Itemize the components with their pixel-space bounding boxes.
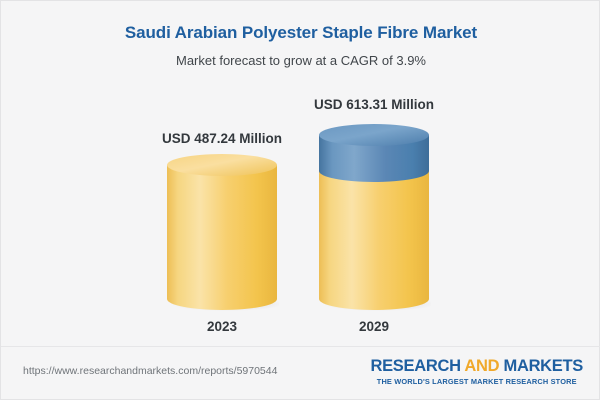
infographic-card: Saudi Arabian Polyester Staple Fibre Mar… (0, 0, 600, 400)
logo-text-and: AND (464, 357, 499, 375)
logo-text-markets: MARKETS (499, 357, 583, 375)
bar-value-label-2023: USD 487.24 Million (112, 131, 332, 146)
footer: https://www.researchandmarkets.com/repor… (1, 346, 600, 399)
bar-value-label-2029: USD 613.31 Million (264, 97, 484, 112)
footer-report-url[interactable]: https://www.researchandmarkets.com/repor… (23, 365, 277, 377)
bar-cylinder-2029 (317, 123, 431, 311)
research-and-markets-logo: RESEARCH AND MARKETS THE WORLD'S LARGEST… (370, 357, 583, 386)
chart-plot-area: USD 487.24 Million (1, 1, 600, 346)
logo-wordmark: RESEARCH AND MARKETS (370, 357, 583, 375)
logo-tagline: THE WORLD'S LARGEST MARKET RESEARCH STOR… (370, 377, 583, 386)
bar-category-label-2029: 2029 (264, 319, 484, 334)
logo-text-research: RESEARCH (370, 357, 464, 375)
bar-cylinder-2023 (165, 153, 279, 311)
